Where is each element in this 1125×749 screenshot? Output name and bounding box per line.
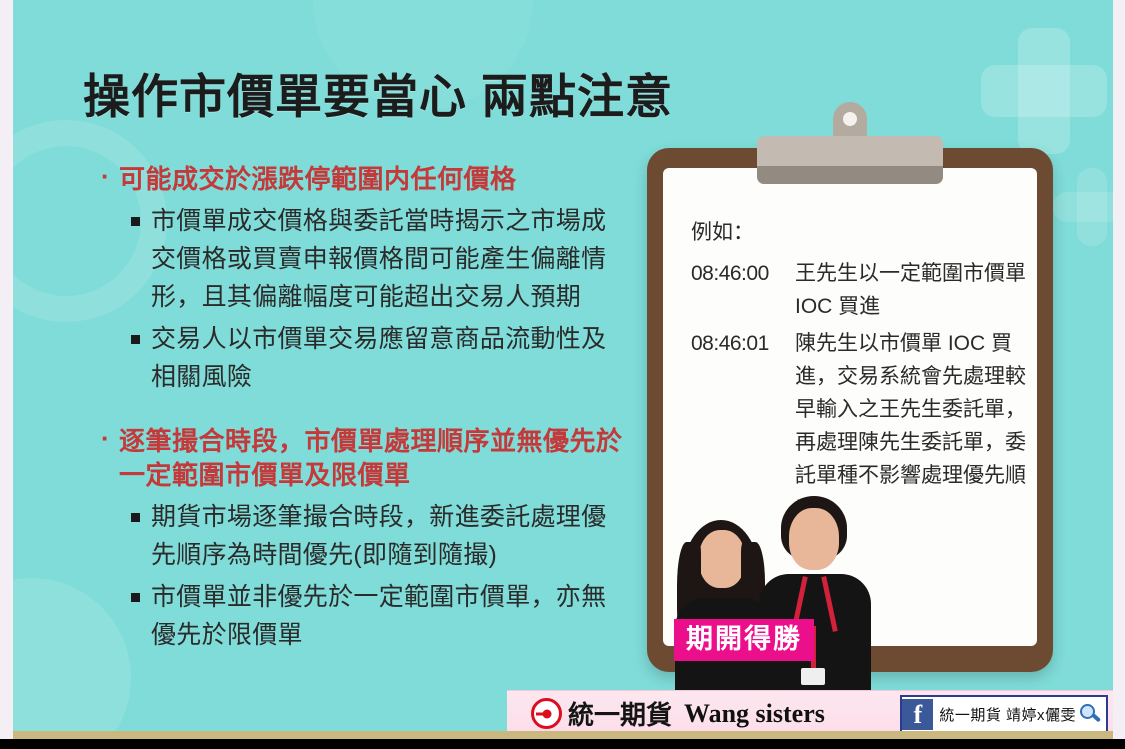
right-frame-edge <box>1113 0 1125 739</box>
note-text: 王先生以一定範圍市價單 IOC 買進 <box>795 257 1031 323</box>
slide-canvas: 操作市價單要當心 兩點注意 可能成交於漲跌停範圍内任何價格 市價單成交價格與委託… <box>13 0 1113 731</box>
bullet-group-2: 逐筆撮合時段，市價單處理順序並無優先於一定範圍市價單及限價單 期貨市場逐筆撮合時… <box>101 424 631 654</box>
note-heading: 例如： <box>691 216 1031 249</box>
bullet-heading-2: 逐筆撮合時段，市價單處理順序並無優先於一定範圍市價單及限價單 <box>101 424 631 492</box>
pink-caption: 期開得勝 <box>674 619 814 661</box>
search-icon <box>1080 704 1102 726</box>
brand-name-cn: 統一期貨 <box>568 695 672 731</box>
uni-futures-logo-icon <box>531 698 562 729</box>
clipboard-clip-bar <box>757 136 943 184</box>
clipboard-clip-hole <box>843 112 857 126</box>
decorative-plus-top-right <box>981 28 1107 154</box>
left-frame-edge <box>0 0 13 739</box>
bullet-item-2-2: 市價單並非優先於一定範圍市價單，亦無優先於限價單 <box>101 578 631 654</box>
bullet-item-1-1: 市價單成交價格與委託當時揭示之市場成交價格或買賣申報價格間可能產生偏離情形，且其… <box>101 202 631 316</box>
page-title: 操作市價單要當心 兩點注意 <box>83 58 673 127</box>
note-time: 08:46:00 <box>691 257 795 290</box>
face <box>699 530 745 588</box>
facebook-page-name: 統一期貨 靖婷x儷雯 <box>933 704 1080 725</box>
note-row: 08:46:00 王先生以一定範圍市價單 IOC 買進 <box>691 257 1031 323</box>
bottom-banner: 統一期貨 Wang sisters f 統一期貨 靖婷x儷雯 <box>507 690 1113 731</box>
bullet-item-1-2: 交易人以市價單交易應留意商品流動性及相關風險 <box>101 320 631 396</box>
brand-name-en: Wang sisters <box>684 699 825 729</box>
facebook-page-badge[interactable]: f 統一期貨 靖婷x儷雯 <box>900 695 1108 731</box>
hosts-photo <box>673 492 873 692</box>
bullet-item-2-1: 期貨市場逐筆撮合時段，新進委託處理優先順序為時間優先(即隨到隨撮) <box>101 498 631 574</box>
clipboard-note: 例如： 08:46:00 王先生以一定範圍市價單 IOC 買進 08:46:01… <box>691 216 1031 529</box>
person-left <box>673 512 773 692</box>
person-right <box>759 496 871 692</box>
bullet-heading-1: 可能成交於漲跌停範圍内任何價格 <box>101 162 631 196</box>
id-badge <box>801 668 825 685</box>
brand-lockup: 統一期貨 Wang sisters <box>531 695 825 731</box>
bullet-content: 可能成交於漲跌停範圍内任何價格 市價單成交價格與委託當時揭示之市場成交價格或買賣… <box>101 162 631 668</box>
facebook-icon: f <box>902 699 933 730</box>
face <box>789 508 839 570</box>
note-time: 08:46:01 <box>691 327 795 360</box>
slide-screenshot: 操作市價單要當心 兩點注意 可能成交於漲跌停範圍内任何價格 市價單成交價格與委託… <box>0 0 1125 749</box>
decorative-plus-top-right-small <box>1053 168 1113 246</box>
bottom-gold-strip <box>13 731 1113 739</box>
bullet-group-1: 可能成交於漲跌停範圍内任何價格 市價單成交價格與委託當時揭示之市場成交價格或買賣… <box>101 162 631 396</box>
bottom-black-bar <box>0 739 1125 749</box>
